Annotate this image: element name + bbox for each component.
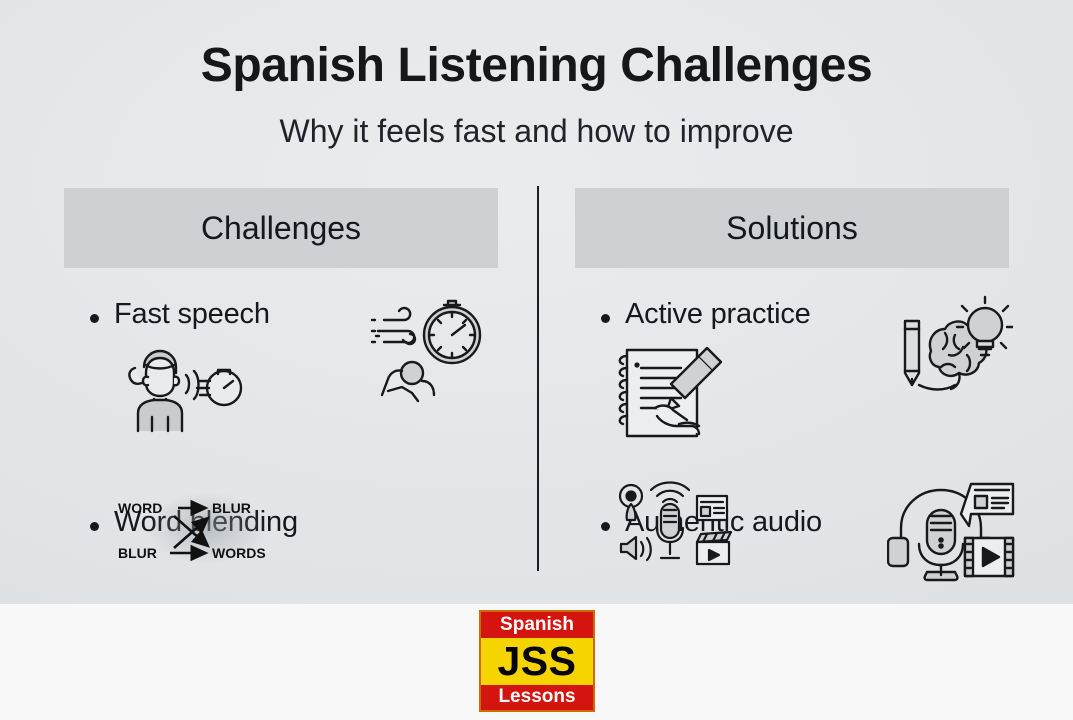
column-header-challenges: Challenges xyxy=(64,188,498,268)
stopwatch-runner-icon xyxy=(364,293,494,403)
word-blur-diagram-icon: WORD BLUR BLUR WORDS xyxy=(112,488,322,568)
infographic-canvas: Spanish Listening Challenges Why it feel… xyxy=(0,0,1073,720)
jss-logo[interactable]: Spanish JSS Lessons xyxy=(479,610,595,712)
person-listening-icon xyxy=(104,343,244,433)
logo-middle-text: JSS xyxy=(481,638,593,685)
column-solutions: Solutions Active practice xyxy=(575,188,1009,539)
podcast-media-cluster-icon xyxy=(613,480,738,575)
diagram-word-3: BLUR xyxy=(118,545,157,561)
logo-bottom-text: Lessons xyxy=(481,685,593,711)
headphones-mic-news-icon xyxy=(887,476,1017,586)
bullet-dot-icon xyxy=(601,314,610,323)
column-divider xyxy=(537,186,539,571)
bullet-dot-icon xyxy=(601,522,610,531)
page-subtitle: Why it feels fast and how to improve xyxy=(0,113,1073,150)
bullet-dot-icon xyxy=(90,522,99,531)
bullet-dot-icon xyxy=(90,314,99,323)
diagram-word-4: WORDS xyxy=(212,545,266,561)
column-challenges: Challenges Fast speech xyxy=(64,188,498,539)
logo-top-text: Spanish xyxy=(481,612,593,638)
diagram-word-2: BLUR xyxy=(212,500,251,516)
brain-lightbulb-icon xyxy=(893,293,1013,403)
column-header-solutions: Solutions xyxy=(575,188,1009,268)
page-title: Spanish Listening Challenges xyxy=(0,38,1073,93)
list-item-label: Active practice xyxy=(625,298,811,331)
diagram-word-1: WORD xyxy=(118,500,162,516)
notebook-writing-hand-icon xyxy=(605,338,745,448)
list-item-label: Fast speech xyxy=(114,298,270,331)
